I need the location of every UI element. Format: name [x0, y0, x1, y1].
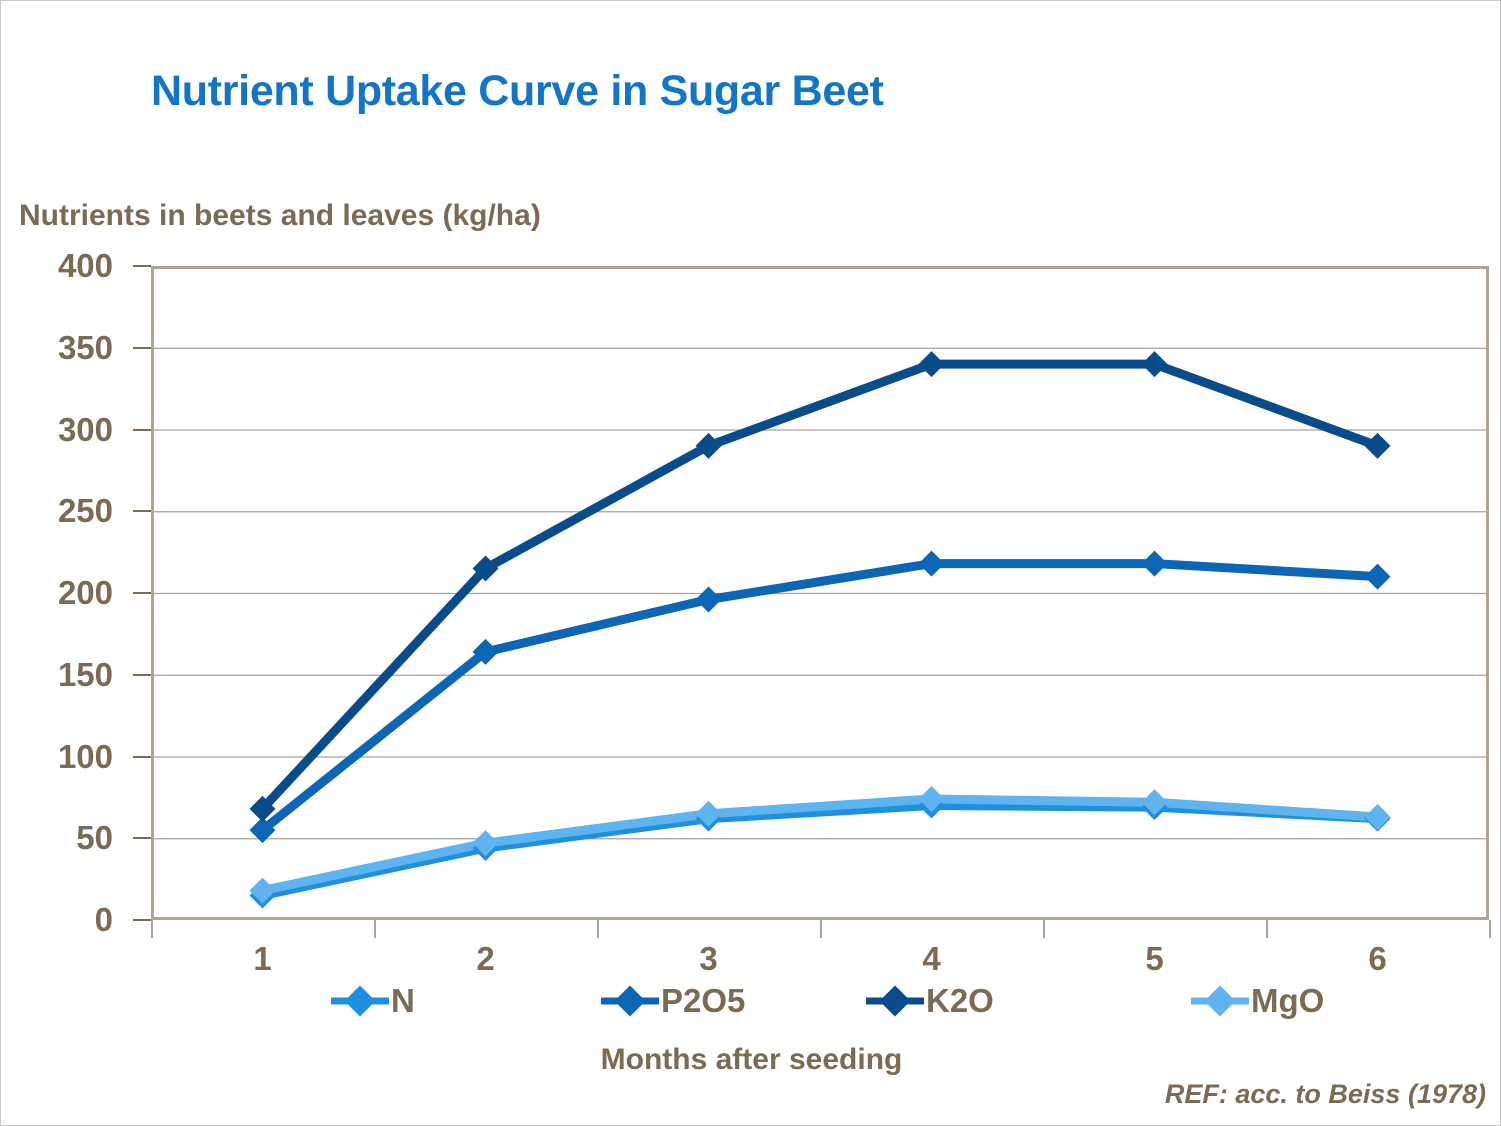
y-axis-tick-mark — [133, 674, 151, 676]
legend-diamond-icon — [1204, 985, 1235, 1016]
legend-item-MgO[interactable]: MgO — [1191, 979, 1324, 1023]
legend-item-N[interactable]: N — [331, 979, 415, 1023]
reference-note: REF: acc. to Beiss (1978) — [1165, 1079, 1486, 1110]
x-axis-tick-label: 3 — [669, 940, 749, 978]
y-axis-tick-mark — [133, 510, 151, 512]
legend-item-K2O[interactable]: K2O — [866, 979, 994, 1023]
y-axis-tick-label: 200 — [58, 574, 113, 612]
plot-area: 400350300250200150100500 — [151, 266, 1489, 920]
x-axis-tick-label: 5 — [1115, 940, 1195, 978]
x-axis-tick-mark — [1043, 920, 1045, 938]
legend-label: K2O — [926, 982, 994, 1020]
chart-page: Nutrient Uptake Curve in Sugar Beet Nutr… — [0, 0, 1501, 1126]
x-axis-tick-mark — [597, 920, 599, 938]
x-axis-tick-mark — [374, 920, 376, 938]
data-point-MgO-1 — [250, 878, 276, 904]
legend-label: MgO — [1251, 982, 1324, 1020]
legend-label: N — [391, 982, 415, 1020]
y-axis-tick-label: 150 — [58, 656, 113, 694]
y-axis-tick-mark — [133, 429, 151, 431]
chart-legend: NP2O5K2OMgO — [151, 979, 1489, 1023]
y-axis-tick-label: 0 — [95, 901, 113, 939]
x-axis-tick-label: 6 — [1338, 940, 1418, 978]
legend-marker-diamond-icon — [601, 979, 659, 1023]
series-line-P2O5 — [263, 564, 1378, 831]
y-axis-tick-mark — [133, 919, 151, 921]
legend-label: P2O5 — [661, 982, 745, 1020]
x-axis-title: Months after seeding — [1, 1043, 1501, 1077]
y-axis-tick-mark — [133, 837, 151, 839]
x-axis-tick-mark — [1489, 920, 1491, 938]
data-point-P2O5-3 — [696, 587, 722, 613]
legend-diamond-icon — [879, 985, 910, 1016]
data-point-P2O5-4 — [919, 551, 945, 577]
y-axis-tick-mark — [133, 265, 151, 267]
x-axis-tick-mark — [1266, 920, 1268, 938]
series-layer — [151, 266, 1489, 920]
x-axis-tick-mark — [820, 920, 822, 938]
data-point-P2O5-6 — [1365, 564, 1391, 590]
y-axis-title: Nutrients in beets and leaves (kg/ha) — [19, 199, 541, 233]
legend-marker-diamond-icon — [1191, 979, 1249, 1023]
y-axis-tick-label: 400 — [58, 247, 113, 285]
x-axis-tick-label: 2 — [446, 940, 526, 978]
legend-diamond-icon — [344, 985, 375, 1016]
x-axis-tick-label: 1 — [223, 940, 303, 978]
x-axis-tick-label: 4 — [892, 940, 972, 978]
data-point-P2O5-5 — [1142, 551, 1168, 577]
x-axis-tick-mark — [151, 920, 153, 938]
y-axis-tick-label: 50 — [76, 819, 113, 857]
data-point-MgO-6 — [1365, 804, 1391, 830]
data-point-K2O-6 — [1365, 433, 1391, 459]
data-point-K2O-4 — [919, 351, 945, 377]
legend-marker-diamond-icon — [866, 979, 924, 1023]
y-axis-tick-label: 300 — [58, 411, 113, 449]
legend-marker-diamond-icon — [331, 979, 389, 1023]
legend-diamond-icon — [614, 985, 645, 1016]
y-axis-tick-label: 350 — [58, 329, 113, 367]
page-title: Nutrient Uptake Curve in Sugar Beet — [151, 67, 884, 116]
legend-item-P2O5[interactable]: P2O5 — [601, 979, 745, 1023]
y-axis-tick-label: 250 — [58, 492, 113, 530]
data-point-K2O-5 — [1142, 351, 1168, 377]
y-axis-tick-mark — [133, 347, 151, 349]
series-line-K2O — [263, 364, 1378, 809]
y-axis-tick-label: 100 — [58, 738, 113, 776]
y-axis-tick-mark — [133, 592, 151, 594]
y-axis-tick-mark — [133, 756, 151, 758]
